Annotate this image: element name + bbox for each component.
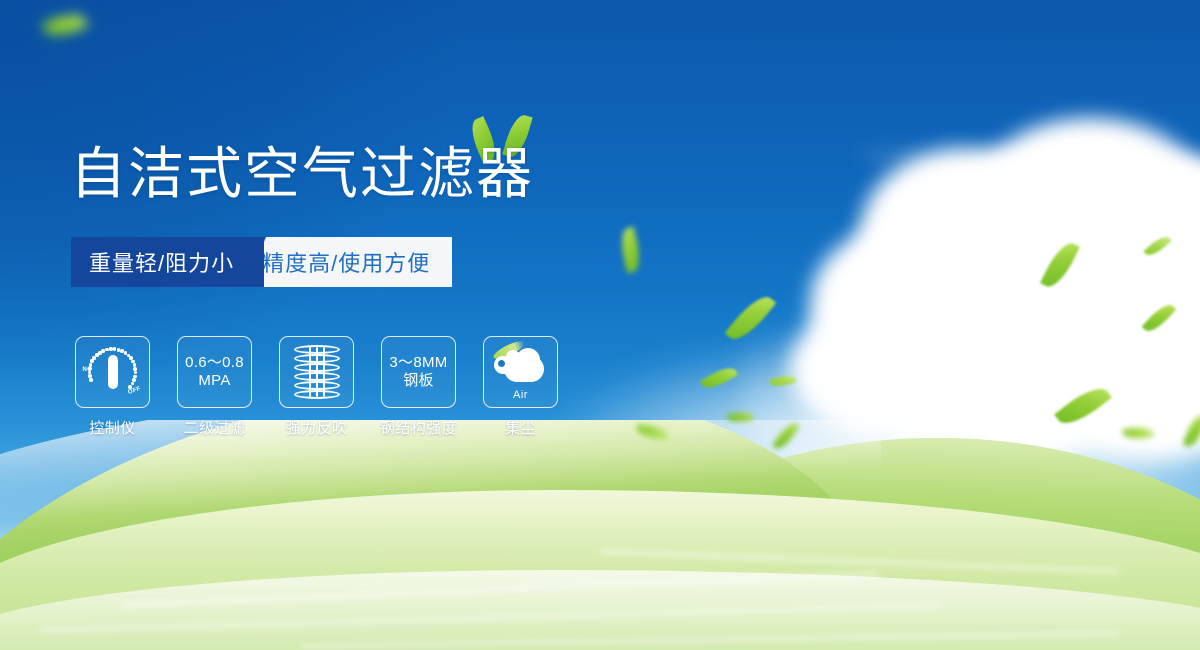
gauge-needle — [108, 355, 118, 389]
subtitle-left: 重量轻/阻力小 — [71, 237, 264, 287]
feature-item-steel[interactable]: 3〜8MM 钢板 钢结构强度 — [381, 336, 456, 438]
feature-icon-box: Air — [483, 336, 558, 408]
gauge-icon: NO OFF — [84, 344, 142, 400]
gauge-tick — [89, 363, 93, 367]
feature-icon-box — [279, 336, 354, 408]
feature-label: 集尘 — [505, 417, 536, 438]
gauge-tick — [88, 374, 92, 378]
gauge-tick — [88, 367, 92, 371]
gauge-tick — [113, 347, 117, 351]
pressure-icon: 0.6〜0.8 MPA — [185, 354, 244, 391]
feature-item-dust[interactable]: Air 集尘 — [483, 336, 558, 438]
banner-content: 自洁式空气过滤器 重量轻/阻力小 精度高/使用方便 NO OFF 控制仪 — [0, 0, 1200, 650]
gauge-tick — [134, 371, 138, 375]
feature-icon-box: 3〜8MM 钢板 — [381, 336, 456, 408]
steel-icon: 3〜8MM 钢板 — [389, 354, 447, 391]
subtitle-right: 精度高/使用方便 — [244, 237, 452, 287]
coil-icon — [294, 345, 340, 399]
product-banner: 自洁式空气过滤器 重量轻/阻力小 精度高/使用方便 NO OFF 控制仪 — [0, 0, 1200, 650]
gauge-tick — [109, 347, 113, 351]
feature-icon-box: 0.6〜0.8 MPA — [177, 336, 252, 408]
feature-label: 二级过滤 — [183, 417, 245, 438]
subtitle-badge: 重量轻/阻力小 精度高/使用方便 — [71, 237, 452, 287]
feature-label: 钢结构强度 — [380, 417, 458, 438]
gauge-tick — [89, 378, 93, 382]
feature-icon-box: NO OFF — [75, 336, 150, 408]
feature-label: 控制仪 — [89, 417, 136, 438]
feature-item-filtration[interactable]: 0.6〜0.8 MPA 二级过滤 — [177, 336, 252, 438]
banner-title: 自洁式空气过滤器 — [70, 146, 534, 202]
air-cloud-icon: Air — [492, 346, 550, 398]
feature-list: NO OFF 控制仪 0.6〜0.8 MPA 二级过滤 — [75, 336, 558, 438]
feature-item-controller[interactable]: NO OFF 控制仪 — [75, 336, 150, 438]
feature-item-blowback[interactable]: 强力反吹 — [279, 336, 354, 438]
gauge-tick — [90, 359, 94, 363]
feature-label: 强力反吹 — [285, 417, 347, 438]
gauge-tick — [128, 385, 132, 389]
air-label: Air — [492, 389, 550, 401]
